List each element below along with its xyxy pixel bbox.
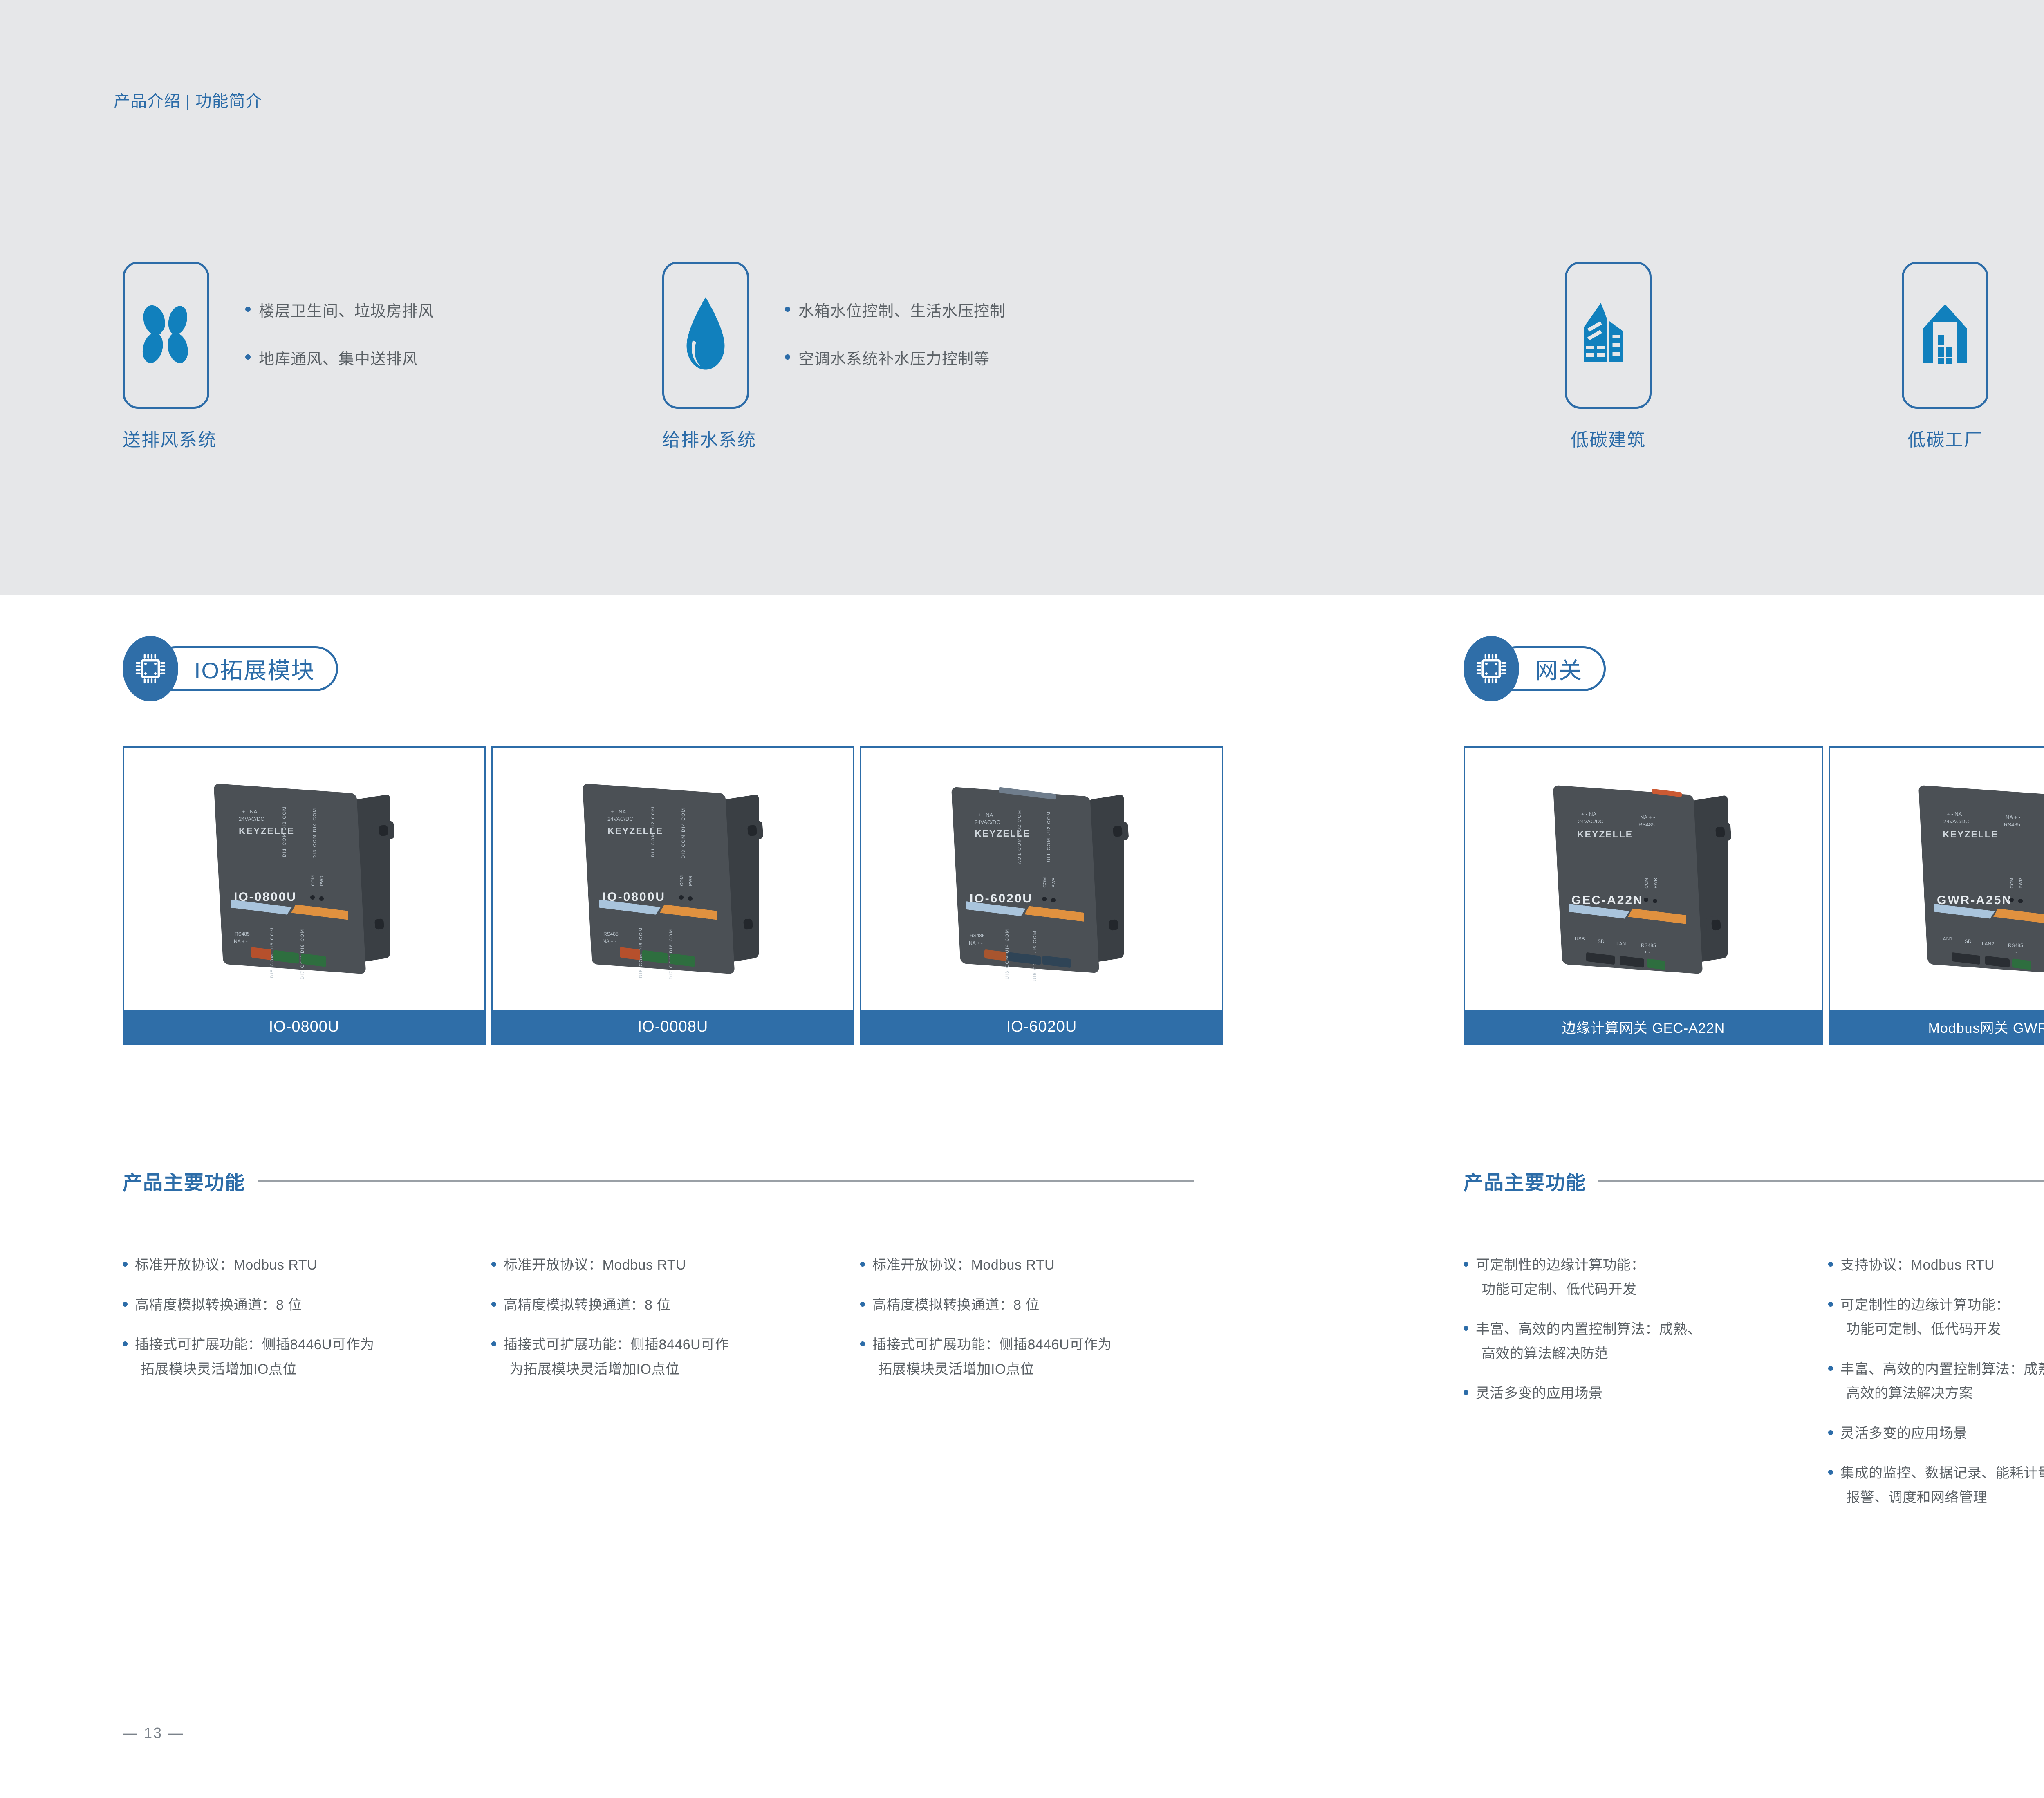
device-label: PWR <box>320 875 325 886</box>
bullet-text: 插接式可扩展功能：侧插8446U可作 为拓展模块灵活增加IO点位 <box>504 1333 729 1382</box>
target-low-carbon-building: 低碳建筑 <box>1565 262 1652 409</box>
list-item: 可定制性的边缘计算功能： 功能可定制、低代码开发 <box>1464 1253 1823 1302</box>
list-item: 空调水系统补水压力控制等 <box>785 346 1153 369</box>
device-label: + - NA <box>1581 811 1596 817</box>
section-badge-pill: IO拓展模块 <box>153 646 338 691</box>
device-label: RS485 <box>1641 943 1656 948</box>
function-column: 标准开放协议：Modbus RTU 高精度模拟转换通道：8 位 插接式可扩展功能… <box>491 1253 855 1397</box>
device-label: RS485 <box>970 933 985 938</box>
running-head-left: 产品介绍 | 功能简介 <box>114 88 262 112</box>
device-label: RS485 <box>2004 822 2020 828</box>
product-card-row-gateway: + - NA 24VAC/DC NA + - RS485 KEYZELLE GE… <box>1464 746 2044 1045</box>
bullet-dot-icon <box>491 1262 496 1267</box>
bullet-line: 标准开放协议：Modbus RTU <box>135 1257 317 1273</box>
product-card[interactable]: + - NA 24VAC/DC DI1 COM DI2 COM DI3 COM … <box>123 746 486 1045</box>
water-drop-icon <box>679 296 732 375</box>
bullet-line: 高精度模拟转换通道：8 位 <box>504 1297 671 1313</box>
device-label: NA + - <box>2006 814 2021 820</box>
list-item: 插接式可扩展功能：侧插8446U可作 为拓展模块灵活增加IO点位 <box>491 1333 855 1382</box>
bullet-text: 丰富、高效的内置控制算法：成熟、 高效的算法解决方案 <box>1840 1357 2044 1406</box>
device-label: + - NA <box>1947 811 1962 817</box>
function-column: 可定制性的边缘计算功能： 功能可定制、低代码开发 丰富、高效的内置控制算法：成熟… <box>1464 1253 1823 1525</box>
device-label: PWR <box>2019 878 2024 889</box>
device-label: PWR <box>1051 877 1056 888</box>
bullet-line: 高精度模拟转换通道：8 位 <box>872 1297 1040 1313</box>
office-building-icon <box>1578 298 1639 372</box>
fan-icon <box>131 298 201 372</box>
bullet-text: 标准开放协议：Modbus RTU <box>135 1253 317 1278</box>
bullet-line: 插接式可扩展功能：侧插8446U可作为 <box>135 1337 374 1352</box>
product-card-row-io: + - NA 24VAC/DC DI1 COM DI2 COM DI3 COM … <box>123 746 1223 1045</box>
list-item: 插接式可扩展功能：侧插8446U可作为 拓展模块灵活增加IO点位 <box>123 1333 486 1382</box>
device-label: + - <box>2011 949 2017 955</box>
bullet-dot-icon <box>1464 1262 1468 1267</box>
bullet-dot-icon <box>123 1341 128 1346</box>
device-label: LAN <box>1616 941 1626 947</box>
bullet-text: 灵活多变的应用场景 <box>1840 1422 1968 1446</box>
fan-tile <box>123 262 209 409</box>
product-card[interactable]: + - NA 24VAC/DC NA + - RS485 KEYZELLE GE… <box>1464 746 1823 1045</box>
page-number-left: — 13 — <box>123 1724 184 1742</box>
function-column: 支持协议：Modbus RTU 可定制性的边缘计算功能： 功能可定制、低代码开发… <box>1828 1253 2044 1525</box>
section-badge-gateway: 网关 <box>1464 636 1606 701</box>
device-label: + - NA <box>242 808 257 815</box>
bullet-dot-icon <box>785 307 790 312</box>
bullet-dot-icon <box>491 1341 496 1346</box>
product-caption: Modbus网关 GWR-A25N <box>1830 1010 2044 1043</box>
product-card[interactable]: + - NA 24VAC/DC DI1 COM DI2 COM DI3 COM … <box>491 746 854 1045</box>
scenario-label-water: 给排水系统 <box>662 425 749 451</box>
device-label: NA + - <box>1640 814 1655 820</box>
device-brand: KEYZELLE <box>975 828 1030 839</box>
bullet-line: 可定制性的边缘计算功能： <box>1476 1257 1645 1273</box>
bullet-line: 功能可定制、低代码开发 <box>1476 1278 1645 1302</box>
top-grey-band <box>0 0 2044 595</box>
device-label: RS485 <box>2008 943 2023 948</box>
bullet-dot-icon <box>1828 1302 1833 1307</box>
function-column: 标准开放协议：Modbus RTU 高精度模拟转换通道：8 位 插接式可扩展功能… <box>860 1253 1224 1397</box>
device-label: NA + - <box>969 940 983 946</box>
factory-tile <box>1902 262 1988 409</box>
device-label: PWR <box>688 875 693 886</box>
product-photo-io-0008u: + - NA 24VAC/DC DI1 COM DI2 COM DI3 COM … <box>493 748 853 1010</box>
bullet-dot-icon <box>1464 1390 1468 1395</box>
functions-title: 产品主要功能 <box>123 1167 245 1195</box>
target-label-building: 低碳建筑 <box>1565 425 1652 451</box>
list-item: 丰富、高效的内置控制算法：成熟、 高效的算法解决防范 <box>1464 1317 1823 1366</box>
section-badge-io-modules: IO拓展模块 <box>123 636 338 701</box>
bullet-dot-icon <box>1828 1262 1833 1267</box>
device-label: COM <box>2010 878 2015 889</box>
bullet-dot-icon <box>123 1262 128 1267</box>
device-label: DI3 COM DI4 COM <box>681 808 686 859</box>
product-photo-gec-a22n: + - NA 24VAC/DC NA + - RS485 KEYZELLE GE… <box>1465 748 1822 1010</box>
device-label: PWR <box>1653 878 1658 889</box>
device-brand: KEYZELLE <box>239 826 294 837</box>
target-low-carbon-factory: 低碳工厂 <box>1902 262 1988 409</box>
device-label: COM <box>679 875 684 886</box>
list-item: 标准开放协议：Modbus RTU <box>123 1253 486 1278</box>
ventilation-bullet-list: 楼层卫生间、垃圾房排风 地库通风、集中送排风 <box>245 298 613 394</box>
bullet-text: 插接式可扩展功能：侧插8446U可作为 拓展模块灵活增加IO点位 <box>872 1333 1112 1382</box>
device-label: DI3 COM DI4 COM <box>312 808 317 859</box>
scenario-ventilation: 送排风系统 楼层卫生间、垃圾房排风 地库通风、集中送排风 <box>123 262 209 409</box>
product-card[interactable]: + - NA 24VAC/DC AO1 COM AO2 COM UI1 COM … <box>860 746 1223 1045</box>
bullet-dot-icon <box>860 1262 865 1267</box>
device-label: 24VAC/DC <box>607 816 633 822</box>
section-title: 网关 <box>1535 652 1582 685</box>
bullet-text: 高精度模拟转换通道：8 位 <box>872 1293 1040 1318</box>
heading-rule <box>258 1180 1194 1182</box>
bullet-text: 可定制性的边缘计算功能： 功能可定制、低代码开发 <box>1476 1253 1645 1302</box>
bullet-dot-icon <box>1464 1326 1468 1331</box>
list-item: 标准开放协议：Modbus RTU <box>860 1253 1224 1278</box>
bullet-line: 支持协议：Modbus RTU <box>1840 1257 1995 1273</box>
product-photo-io-0800u: + - NA 24VAC/DC DI1 COM DI2 COM DI3 COM … <box>124 748 484 1010</box>
product-caption: IO-6020U <box>861 1010 1222 1043</box>
device-label: 24VAC/DC <box>239 816 264 822</box>
product-caption: IO-0008U <box>493 1010 853 1043</box>
bullet-line: 功能可定制、低代码开发 <box>1840 1317 2010 1342</box>
bullet-dot-icon <box>1828 1430 1833 1435</box>
functions-heading: 产品主要功能 <box>1464 1167 2044 1195</box>
heading-rule <box>1598 1180 2044 1182</box>
bullet-dot-icon <box>1828 1366 1833 1371</box>
function-columns-gateway: 可定制性的边缘计算功能： 功能可定制、低代码开发 丰富、高效的内置控制算法：成熟… <box>1464 1253 2044 1525</box>
list-item: 高精度模拟转换通道：8 位 <box>491 1293 855 1318</box>
bullet-line: 插接式可扩展功能：侧插8446U可作 <box>504 1337 729 1352</box>
chip-icon <box>1464 636 1519 701</box>
bullet-text: 水箱水位控制、生活水压控制 <box>798 298 1006 321</box>
bullet-text: 灵活多变的应用场景 <box>1476 1382 1603 1406</box>
device-label: LAN1 <box>1940 936 1952 942</box>
device-label: COM <box>311 875 316 886</box>
bullet-line: 标准开放协议：Modbus RTU <box>872 1257 1055 1273</box>
device-label: 24VAC/DC <box>975 819 1000 825</box>
list-item: 标准开放协议：Modbus RTU <box>491 1253 855 1278</box>
bullet-text: 地库通风、集中送排风 <box>259 346 418 369</box>
bullet-line: 报警、调度和网络管理 <box>1840 1486 2044 1510</box>
list-item: 集成的监控、数据记录、能耗计量、 报警、调度和网络管理 <box>1828 1461 2044 1510</box>
bullet-dot-icon <box>245 354 251 360</box>
product-photo-io-6020u: + - NA 24VAC/DC AO1 COM AO2 COM UI1 COM … <box>861 748 1222 1010</box>
bullet-line: 为拓展模块灵活增加IO点位 <box>504 1357 729 1382</box>
bullet-line: 标准开放协议：Modbus RTU <box>504 1257 686 1273</box>
functions-title: 产品主要功能 <box>1464 1167 1586 1195</box>
bullet-line: 拓展模块灵活增加IO点位 <box>135 1357 374 1382</box>
bullet-dot-icon <box>123 1302 128 1307</box>
bullet-line: 拓展模块灵活增加IO点位 <box>872 1357 1112 1382</box>
device-label: UI1 COM UI2 COM <box>1047 811 1051 862</box>
device-label: COM <box>1042 877 1047 888</box>
product-card[interactable]: + - NA 24VAC/DC NA + - RS485 KEYZELLE GW… <box>1829 746 2044 1045</box>
bullet-line: 高效的算法解决防范 <box>1476 1342 1701 1366</box>
device-label: COM <box>1644 878 1649 889</box>
bullet-text: 楼层卫生间、垃圾房排风 <box>259 298 434 321</box>
product-caption: IO-0800U <box>124 1010 484 1043</box>
device-label: USB <box>1575 936 1585 942</box>
device-brand: KEYZELLE <box>1943 829 1998 840</box>
bullet-line: 可定制性的边缘计算功能： <box>1840 1297 2010 1313</box>
bullet-text: 高精度模拟转换通道：8 位 <box>504 1293 671 1318</box>
bullet-line: 丰富、高效的内置控制算法：成熟、 <box>1840 1361 2044 1377</box>
bullet-dot-icon <box>491 1302 496 1307</box>
device-label: RS485 <box>235 931 250 937</box>
function-column: 标准开放协议：Modbus RTU 高精度模拟转换通道：8 位 插接式可扩展功能… <box>123 1253 486 1397</box>
device-label: SD <box>1965 938 1972 944</box>
list-item: 地库通风、集中送排风 <box>245 346 613 369</box>
device-label: NA + - <box>603 938 616 944</box>
device-label: RS485 <box>603 931 619 937</box>
list-item: 丰富、高效的内置控制算法：成熟、 高效的算法解决方案 <box>1828 1357 2044 1406</box>
bullet-text: 丰富、高效的内置控制算法：成熟、 高效的算法解决防范 <box>1476 1317 1701 1366</box>
brochure-spread: 产品介绍 | 功能简介 产品介绍 | 功能简介 送排风系统 楼层卫生间、垃圾房排… <box>0 0 2044 1798</box>
device-label: + - NA <box>978 812 993 818</box>
device-label: 24VAC/DC <box>1943 818 1969 824</box>
bullet-text: 高精度模拟转换通道：8 位 <box>135 1293 302 1318</box>
device-label: + - <box>1644 949 1650 955</box>
bullet-text: 空调水系统补水压力控制等 <box>798 346 990 369</box>
factory-icon <box>1914 298 1976 372</box>
bullet-text: 插接式可扩展功能：侧插8446U可作为 拓展模块灵活增加IO点位 <box>135 1333 374 1382</box>
bullet-text: 集成的监控、数据记录、能耗计量、 报警、调度和网络管理 <box>1840 1461 2044 1510</box>
bullet-dot-icon <box>860 1302 865 1307</box>
bullet-text: 标准开放协议：Modbus RTU <box>872 1253 1055 1278</box>
device-label: 24VAC/DC <box>1578 818 1604 824</box>
scenario-label-ventilation: 送排风系统 <box>123 425 209 451</box>
office-building-tile <box>1565 262 1652 409</box>
list-item: 灵活多变的应用场景 <box>1828 1422 2044 1446</box>
bullet-line: 高效的算法解决方案 <box>1840 1382 2044 1406</box>
section-title: IO拓展模块 <box>194 652 315 685</box>
function-columns-io: 标准开放协议：Modbus RTU 高精度模拟转换通道：8 位 插接式可扩展功能… <box>123 1253 1224 1397</box>
bullet-text: 标准开放协议：Modbus RTU <box>504 1253 686 1278</box>
list-item: 高精度模拟转换通道：8 位 <box>123 1293 486 1318</box>
bullet-dot-icon <box>860 1341 865 1346</box>
product-photo-gwr-a25n: + - NA 24VAC/DC NA + - RS485 KEYZELLE GW… <box>1830 748 2044 1010</box>
bullet-dot-icon <box>1828 1470 1833 1475</box>
water-drop-tile <box>662 262 749 409</box>
device-label: RS485 <box>1638 822 1655 828</box>
bullet-line: 高精度模拟转换通道：8 位 <box>135 1297 302 1313</box>
chip-icon <box>123 636 178 701</box>
target-label-factory: 低碳工厂 <box>1902 425 1988 451</box>
bullet-text: 可定制性的边缘计算功能： 功能可定制、低代码开发 <box>1840 1293 2010 1342</box>
device-label: + - NA <box>611 808 626 815</box>
list-item: 楼层卫生间、垃圾房排风 <box>245 298 613 321</box>
list-item: 可定制性的边缘计算功能： 功能可定制、低代码开发 <box>1828 1293 2044 1342</box>
bullet-dot-icon <box>785 354 790 360</box>
list-item: 水箱水位控制、生活水压控制 <box>785 298 1153 321</box>
bullet-line: 集成的监控、数据记录、能耗计量、 <box>1840 1465 2044 1481</box>
bullet-line: 丰富、高效的内置控制算法：成熟、 <box>1476 1321 1701 1337</box>
bullet-dot-icon <box>245 307 251 312</box>
device-brand: KEYZELLE <box>1577 829 1633 840</box>
scenario-water-supply: 给排水系统 水箱水位控制、生活水压控制 空调水系统补水压力控制等 <box>662 262 749 409</box>
product-caption: 边缘计算网关 GEC-A22N <box>1465 1010 1822 1043</box>
device-brand: KEYZELLE <box>607 826 663 837</box>
water-bullet-list: 水箱水位控制、生活水压控制 空调水系统补水压力控制等 <box>785 298 1153 394</box>
bullet-text: 支持协议：Modbus RTU <box>1840 1253 1995 1278</box>
device-label: NA + - <box>234 938 248 944</box>
functions-heading: 产品主要功能 <box>123 1167 1194 1195</box>
bullet-line: 灵活多变的应用场景 <box>1476 1386 1603 1401</box>
list-item: 插接式可扩展功能：侧插8446U可作为 拓展模块灵活增加IO点位 <box>860 1333 1224 1382</box>
device-model: GWR-A25N <box>1937 893 2012 907</box>
bullet-line: 插接式可扩展功能：侧插8446U可作为 <box>872 1337 1112 1352</box>
device-label: LAN2 <box>1982 941 1994 947</box>
list-item: 支持协议：Modbus RTU <box>1828 1253 2044 1278</box>
list-item: 灵活多变的应用场景 <box>1464 1382 1823 1406</box>
list-item: 高精度模拟转换通道：8 位 <box>860 1293 1224 1318</box>
device-label: SD <box>1598 938 1605 944</box>
bullet-line: 灵活多变的应用场景 <box>1840 1426 1968 1441</box>
